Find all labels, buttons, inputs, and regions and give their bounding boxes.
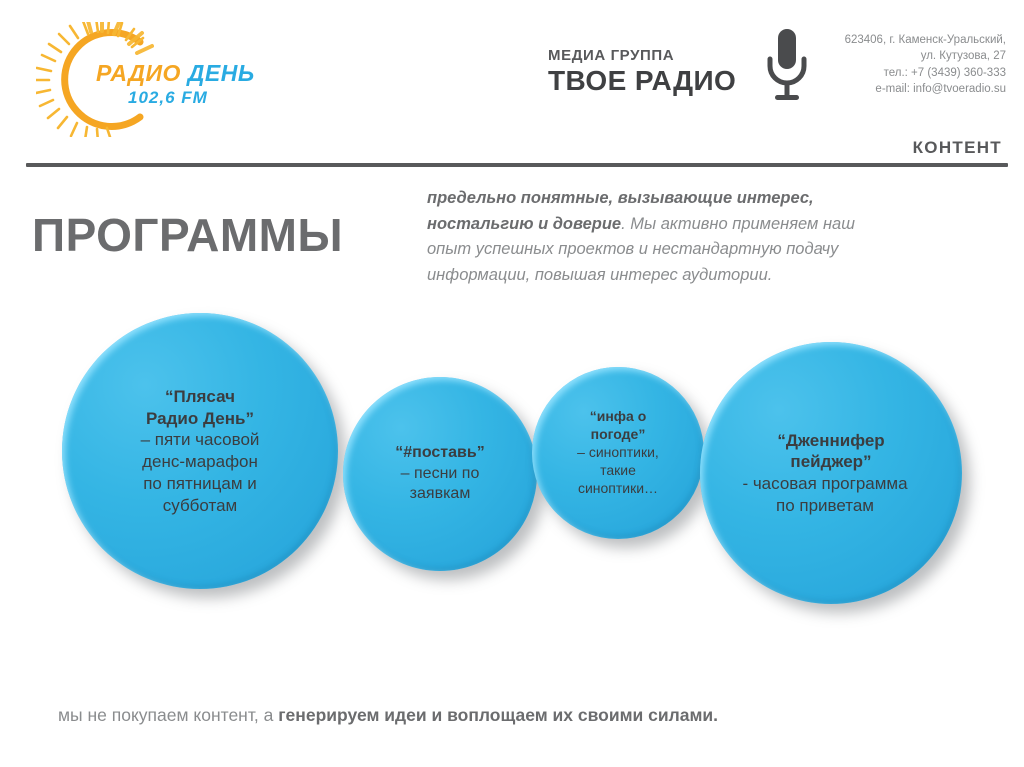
bubble-title: “Дженниферпейджер”	[748, 430, 913, 474]
bubble-title: “инфа опогоде”	[577, 408, 659, 444]
media-group-brand: МЕДИА ГРУППА ТВОЕ РАДИО	[548, 48, 736, 95]
program-bubble-postav[interactable]: “#поставь” – песни позаявкам	[343, 377, 537, 571]
intro-paragraph: предельно понятные, вызывающие интерес, …	[427, 186, 897, 288]
brand-title: ТВОЕ РАДИО	[548, 66, 736, 95]
logo-frequency: 102,6 FM	[128, 89, 246, 106]
bubble-text: “инфа опогоде” – синоптики,такиесиноптик…	[577, 408, 659, 498]
section-label: КОНТЕНТ	[913, 139, 1002, 156]
brand-subtitle: МЕДИА ГРУППА	[548, 48, 736, 63]
contact-info: 623406, г. Каменск-Уральский, ул. Кутузо…	[845, 32, 1006, 97]
logo-name-den: ДЕНЬ	[181, 60, 255, 86]
bubble-text: “ПлясачРадио День” – пяти часовойденс-ма…	[141, 386, 260, 517]
bubble-body: – песни позаявкам	[395, 464, 484, 505]
footer-tagline: мы не покупаем контент, а генерируем иде…	[58, 705, 988, 726]
bubble-text: “#поставь” – песни позаявкам	[395, 443, 484, 504]
page-header: РАДИО ДЕНЬ 102,6 FM МЕДИА ГРУППА ТВОЕ РА…	[0, 0, 1024, 160]
footer-bold-text: генерируем идеи и воплощаем их своими си…	[278, 705, 718, 725]
bubble-body: – синоптики,такиесиноптики…	[577, 444, 659, 498]
bubble-body: - часовая программапо приветам	[742, 473, 907, 517]
contact-address-line2: ул. Кутузова, 27	[845, 48, 1006, 64]
radio-den-logo: РАДИО ДЕНЬ 102,6 FM	[36, 22, 246, 137]
bubble-title: “#поставь”	[395, 443, 484, 463]
logo-name-line: РАДИО ДЕНЬ	[96, 62, 246, 85]
bubble-text: “Дженниферпейджер” - часовая программапо…	[748, 430, 913, 517]
logo-name-radio: РАДИО	[96, 60, 181, 86]
program-bubbles: “ПлясачРадио День” – пяти часовойденс-ма…	[0, 300, 1024, 630]
program-bubble-plyasach[interactable]: “ПлясачРадио День” – пяти часовойденс-ма…	[62, 313, 338, 589]
logo-wordmark: РАДИО ДЕНЬ 102,6 FM	[96, 62, 246, 106]
bubble-title: “ПлясачРадио День”	[141, 386, 260, 430]
page-title: ПРОГРАММЫ	[32, 212, 343, 258]
microphone-icon	[762, 27, 812, 105]
program-bubble-infa-o-pogode[interactable]: “инфа опогоде” – синоптики,такиесиноптик…	[532, 367, 704, 539]
header-divider	[26, 163, 1008, 167]
bubble-body: – пяти часовойденс-марафонпо пятницам ис…	[141, 429, 260, 516]
contact-phone: тел.: +7 (3439) 360-333	[845, 65, 1006, 81]
footer-normal-text: мы не покупаем контент, а	[58, 705, 278, 725]
contact-email: e-mail: info@tvoeradio.su	[845, 81, 1006, 97]
program-bubble-dzhennifer-peydzher[interactable]: “Дженниферпейджер” - часовая программапо…	[700, 342, 962, 604]
contact-address-line1: 623406, г. Каменск-Уральский,	[845, 32, 1006, 48]
